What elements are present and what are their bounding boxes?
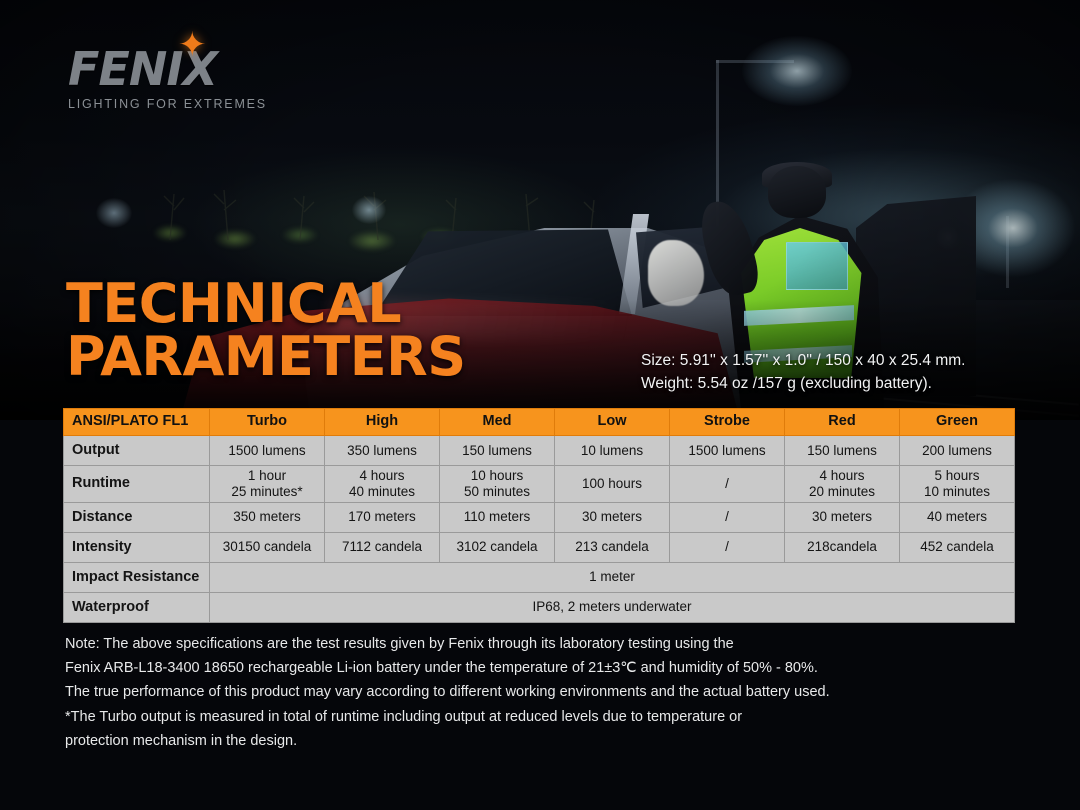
note-line-3: The true performance of this product may… (65, 680, 1025, 704)
row-label-waterproof: Waterproof (64, 592, 210, 622)
note-line-5: protection mechanism in the design. (65, 729, 1025, 753)
cell-distance-strobe: / (670, 502, 785, 532)
col-header-med: Med (440, 409, 555, 436)
col-header-red: Red (785, 409, 900, 436)
cell-runtime-low: 100 hours (555, 466, 670, 503)
page-title-line2: PARAMETERS (66, 331, 466, 384)
row-label-distance: Distance (64, 502, 210, 532)
size-text: Size: 5.91'' x 1.57'' x 1.0'' / 150 x 40… (641, 349, 965, 372)
cell-waterproof-value: IP68, 2 meters underwater (210, 592, 1015, 622)
cell-distance-green: 40 meters (900, 502, 1015, 532)
cell-intensity-high: 7112 candela (325, 532, 440, 562)
table-header-row: ANSI/PLATO FL1 Turbo High Med Low Strobe… (64, 409, 1015, 436)
cell-intensity-med: 3102 candela (440, 532, 555, 562)
note-line-4: *The Turbo output is measured in total o… (65, 705, 1025, 729)
cell-distance-med: 110 meters (440, 502, 555, 532)
table-row: Intensity 30150 candela 7112 candela 310… (64, 532, 1015, 562)
weight-text: Weight: 5.54 oz /157 g (excluding batter… (641, 372, 965, 395)
specifications-table: ANSI/PLATO FL1 Turbo High Med Low Strobe… (63, 408, 1015, 623)
cell-intensity-green: 452 candela (900, 532, 1015, 562)
table-row: Distance 350 meters 170 meters 110 meter… (64, 502, 1015, 532)
cell-runtime-green: 5 hours 10 minutes (900, 466, 1015, 503)
table-row: Runtime 1 hour 25 minutes* 4 hours 40 mi… (64, 466, 1015, 503)
star-icon: ✦ (178, 28, 204, 64)
cell-intensity-low: 213 candela (555, 532, 670, 562)
table-row: Impact Resistance 1 meter (64, 562, 1015, 592)
fenix-logo: ✦ FENIX LIGHTING FOR EXTREMES (68, 46, 308, 111)
cell-intensity-red: 218candela (785, 532, 900, 562)
footnote-block: Note: The above specifications are the t… (65, 632, 1025, 753)
logo-tagline: LIGHTING FOR EXTREMES (68, 97, 308, 111)
cell-output-red: 150 lumens (785, 436, 900, 466)
col-header-strobe: Strobe (670, 409, 785, 436)
cell-output-med: 150 lumens (440, 436, 555, 466)
cell-distance-red: 30 meters (785, 502, 900, 532)
page-title: TECHNICAL PARAMETERS (66, 278, 466, 384)
note-line-2: Fenix ARB-L18-3400 18650 rechargeable Li… (65, 656, 1025, 680)
cell-distance-turbo: 350 meters (210, 502, 325, 532)
row-label-impact-resistance: Impact Resistance (64, 562, 210, 592)
page-root: ✦ FENIX LIGHTING FOR EXTREMES TECHNICAL … (0, 0, 1080, 810)
table-row: Output 1500 lumens 350 lumens 150 lumens… (64, 436, 1015, 466)
cell-distance-low: 30 meters (555, 502, 670, 532)
cell-output-low: 10 lumens (555, 436, 670, 466)
cell-output-turbo: 1500 lumens (210, 436, 325, 466)
cell-runtime-med: 10 hours 50 minutes (440, 466, 555, 503)
cell-intensity-strobe: / (670, 532, 785, 562)
row-label-output: Output (64, 436, 210, 466)
cell-runtime-turbo: 1 hour 25 minutes* (210, 466, 325, 503)
note-line-1: Note: The above specifications are the t… (65, 632, 1025, 656)
col-header-turbo: Turbo (210, 409, 325, 436)
cell-runtime-red: 4 hours 20 minutes (785, 466, 900, 503)
dimensions-block: Size: 5.91'' x 1.57'' x 1.0'' / 150 x 40… (641, 349, 965, 396)
cell-intensity-turbo: 30150 candela (210, 532, 325, 562)
cell-impact-resistance-value: 1 meter (210, 562, 1015, 592)
col-header-low: Low (555, 409, 670, 436)
cell-output-strobe: 1500 lumens (670, 436, 785, 466)
col-header-high: High (325, 409, 440, 436)
row-label-runtime: Runtime (64, 466, 210, 503)
table-row: Waterproof IP68, 2 meters underwater (64, 592, 1015, 622)
cell-output-high: 350 lumens (325, 436, 440, 466)
col-header-standard: ANSI/PLATO FL1 (64, 409, 210, 436)
cell-output-green: 200 lumens (900, 436, 1015, 466)
cell-runtime-strobe: / (670, 466, 785, 503)
row-label-intensity: Intensity (64, 532, 210, 562)
col-header-green: Green (900, 409, 1015, 436)
cell-runtime-high: 4 hours 40 minutes (325, 466, 440, 503)
cell-distance-high: 170 meters (325, 502, 440, 532)
